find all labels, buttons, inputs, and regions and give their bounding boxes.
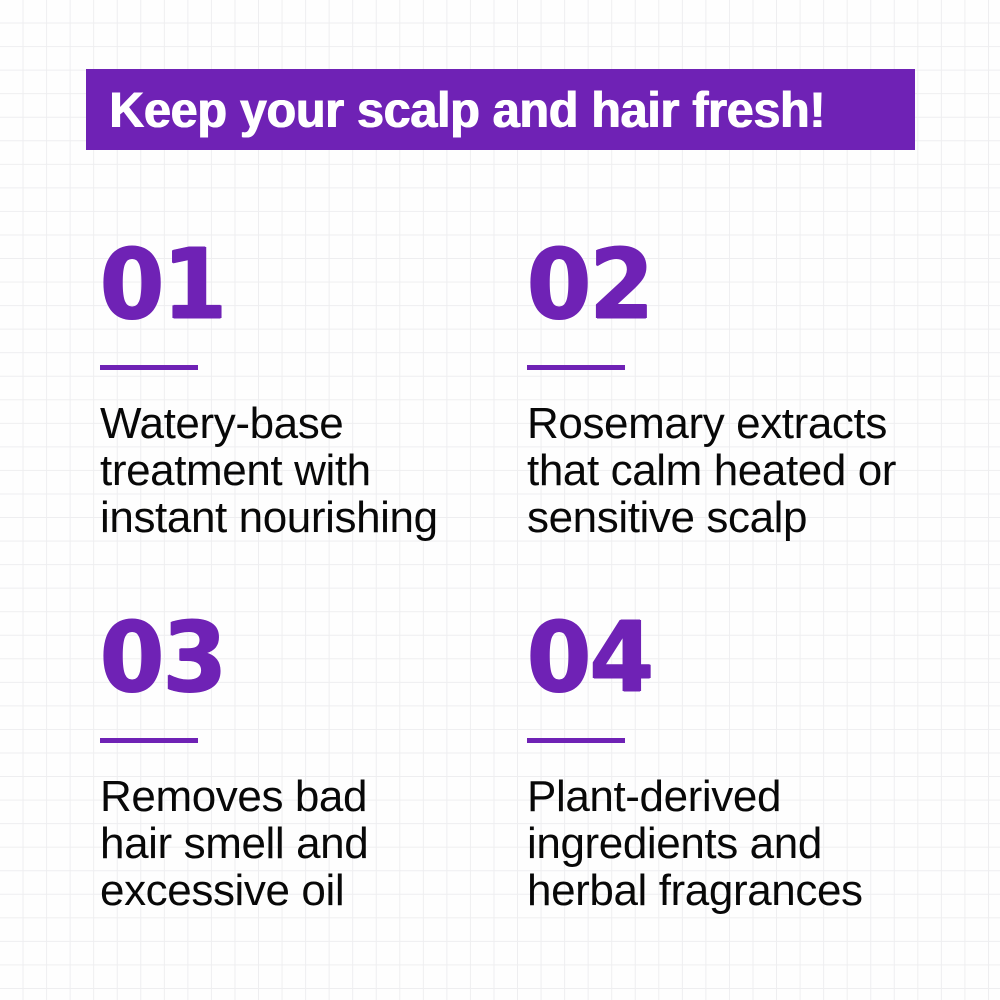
infographic-canvas: Keep your scalp and hair fresh! 01 Water…: [0, 0, 1000, 1000]
feature-number-02: 02: [527, 243, 910, 329]
feature-description-03: Removes bad hair smell and excessive oil: [100, 773, 527, 914]
feature-item-02: 02 Rosemary extracts that calm heated or…: [527, 243, 930, 616]
feature-divider-01: [100, 365, 198, 370]
feature-description-01: Watery-base treatment with instant nouri…: [100, 400, 527, 541]
feature-number-03: 03: [100, 616, 506, 702]
page-title: Keep your scalp and hair fresh!: [86, 85, 825, 135]
feature-number-04: 04: [527, 616, 910, 702]
feature-description-04: Plant-derived ingredients and herbal fra…: [527, 773, 930, 914]
feature-item-04: 04 Plant-derived ingredients and herbal …: [527, 616, 930, 914]
feature-grid: 01 Watery-base treatment with instant no…: [100, 243, 930, 914]
feature-divider-02: [527, 365, 625, 370]
feature-description-02: Rosemary extracts that calm heated or se…: [527, 400, 930, 541]
header-banner: Keep your scalp and hair fresh!: [86, 69, 915, 150]
feature-number-01: 01: [100, 243, 506, 329]
feature-divider-04: [527, 738, 625, 743]
feature-item-01: 01 Watery-base treatment with instant no…: [100, 243, 527, 616]
feature-divider-03: [100, 738, 198, 743]
feature-item-03: 03 Removes bad hair smell and excessive …: [100, 616, 527, 914]
